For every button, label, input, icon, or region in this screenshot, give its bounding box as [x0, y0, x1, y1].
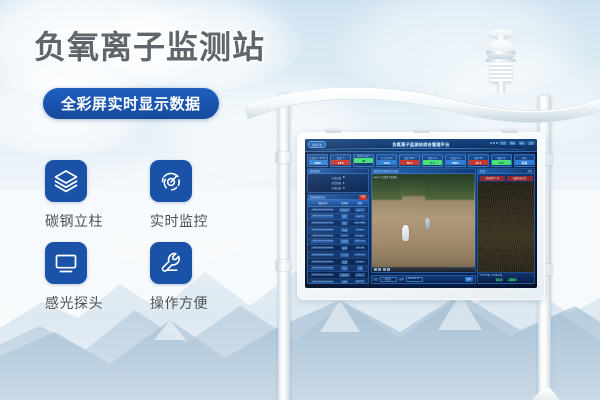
site-label: 站点	[374, 277, 379, 281]
kpi-label: 湿度 %RH	[400, 156, 418, 160]
header-swoosh-decoration	[313, 148, 529, 152]
table-row[interactable]: 2023-03-14 08:45:00大气压1013 hPa	[308, 252, 368, 259]
alert-badge: 超标预警 1 条	[480, 176, 506, 181]
table-cell: 2023-03-14 08:50:00	[308, 245, 337, 252]
table-cell: 东南	[352, 265, 368, 272]
kpi-label: 光照度 Lux	[446, 156, 464, 160]
table-cell: 负氧离子	[337, 272, 351, 279]
feature-item-easy-operation[interactable]: 操作方便	[150, 242, 250, 324]
status-dot	[496, 142, 498, 144]
kpi-row: 负氧离子 个/cm³2860温度 ℃18.6PM2.5 μg/m³32大气压 h…	[305, 152, 537, 167]
nav-chip[interactable]: 报表	[518, 141, 526, 146]
table-cell: 噪声	[337, 245, 351, 252]
kpi-card: 大气压 hPa1013	[376, 154, 397, 167]
table-cell: 2023-03-14 08:55:00	[308, 238, 337, 245]
camera-osd-label: CAM-01 负氧离子监测站	[373, 175, 397, 179]
dashboard-body: 实时概况 在线设备8报警数量1离线设备0 历史数据记录 导出 采集时间监测项数值	[305, 167, 537, 286]
kpi-card: 光照度 Lux8650	[445, 154, 466, 167]
table-cell: 风速	[337, 227, 351, 234]
table-body: 2023-03-14 09:20:00负氧离子2860 个2023-03-14 …	[308, 206, 368, 284]
kpi-card: PM2.5 μg/m³32	[353, 154, 374, 167]
kpi-label: 大气压 hPa	[377, 156, 395, 160]
person-in-frame	[425, 218, 430, 230]
status-dots	[490, 142, 498, 144]
photo-texture	[478, 182, 534, 272]
right-panel-footer: 当日平均值 当日最大值 18.6 2860	[478, 272, 534, 283]
table-cell: 2023-03-14 09:10:00	[308, 220, 337, 227]
video-title: 现场实时视频监控画面	[374, 169, 399, 174]
kpi-card: 雨量 mm0.0	[491, 154, 512, 167]
kpi-label: 负氧离子 个/cm³	[309, 156, 327, 160]
summary-title: 实时概况	[310, 169, 320, 174]
summary-row: 离线设备0	[310, 186, 366, 190]
kpi-label: PM2.5 μg/m³	[354, 156, 372, 158]
video-play-button[interactable]	[374, 268, 377, 271]
footer-tag-row: 当日平均值 当日最大值	[480, 274, 533, 277]
sensor-ring	[486, 59, 516, 62]
export-button[interactable]: 导出	[359, 195, 366, 200]
kpi-label: 风速 m/s	[423, 156, 441, 160]
table-cell: 1013 hPa	[352, 252, 368, 259]
history-table-panel: 历史数据记录 导出 采集时间监测项数值 2023-03-14 09:20:00负…	[307, 194, 369, 284]
table-cell: 2023-03-14 08:30:00	[308, 272, 337, 279]
dashboard-header: 监测平台 负氧离子监测站综合管理平台 首页 数据 报表 设置	[305, 139, 537, 152]
history-table-title: 历史数据记录	[310, 195, 325, 200]
layers-icon	[45, 160, 87, 202]
table-cell: 2860 个	[352, 206, 368, 213]
kpi-label: 噪声 dB	[469, 156, 487, 160]
summary-row-name: 报警数量	[332, 181, 342, 185]
kpi-label: 风向	[515, 156, 533, 160]
table-cell: 光照度	[337, 238, 351, 245]
table-row[interactable]: 2023-03-14 08:35:00风向东南	[308, 265, 368, 272]
feature-grid: 碳钢立柱 实时监控	[45, 160, 255, 324]
summary-panel: 实时概况 在线设备8报警数量1离线设备0	[307, 168, 369, 192]
feature-label: 实时监控	[150, 211, 250, 231]
dashboard-screen: 监测平台 负氧离子监测站综合管理平台 首页 数据 报表 设置	[305, 139, 537, 288]
nav-chip[interactable]: 数据	[509, 141, 517, 146]
table-cell: 2023-03-14 08:45:00	[308, 252, 337, 259]
nav-chip[interactable]: 设置	[527, 141, 535, 146]
monitor-screen-icon	[45, 242, 87, 284]
tree-line	[425, 174, 474, 199]
right-tab-live[interactable]: 实况	[480, 169, 485, 174]
table-cell: 负氧离子	[337, 206, 351, 213]
table-cell: 雨量	[337, 258, 351, 265]
feature-item-light-sensor[interactable]: 感光探头	[45, 242, 145, 324]
table-cell: 18.6 ℃	[352, 213, 368, 220]
summary-row-value: 1	[343, 182, 344, 185]
table-cell: 2023-03-14 08:35:00	[308, 265, 337, 272]
table-cell: 2.4 m/s	[352, 227, 368, 234]
summary-row-name: 在线设备	[332, 176, 342, 180]
kpi-value: 8650	[446, 160, 464, 165]
table-cell: 大气压	[337, 252, 351, 259]
sensor-body	[490, 63, 512, 83]
radar-monitor-icon	[150, 160, 192, 202]
table-cell: 2023-03-14 09:20:00	[308, 206, 337, 213]
kpi-value: 56.2	[400, 160, 418, 165]
pole-joint	[276, 260, 291, 271]
feature-item-steel-pole[interactable]: 碳钢立柱	[45, 160, 145, 242]
table-row[interactable]: 2023-03-14 08:25:00温度18.2 ℃	[308, 279, 368, 284]
video-panel-header: 现场实时视频监控画面	[372, 169, 475, 174]
site-select[interactable]: 一号站点	[380, 277, 397, 282]
site-photo	[478, 182, 534, 272]
table-cell: 8650 Lux	[352, 238, 368, 245]
table-cell: 温度	[337, 213, 351, 220]
kpi-value: 42.1	[469, 160, 487, 165]
kpi-card: 湿度 %RH56.2	[399, 154, 420, 167]
table-row[interactable]: 2023-03-14 09:05:00风速2.4 m/s	[308, 227, 368, 234]
footer-tag: 当日平均值	[480, 274, 490, 277]
alert-badge: 设备状态正常	[507, 176, 533, 181]
kpi-value: 1013	[377, 160, 395, 165]
summary-row: 报警数量1	[310, 181, 366, 185]
alert-row: 超标预警 1 条 设备状态正常	[478, 174, 534, 181]
history-table: 采集时间监测项数值 2023-03-14 09:20:00负氧离子2860 个2…	[308, 200, 368, 284]
table-row[interactable]: 2023-03-14 09:10:00湿度56.2 %RH	[308, 220, 368, 227]
table-row[interactable]: 2023-03-14 08:55:00光照度8650 Lux	[308, 238, 368, 245]
video-pause-button[interactable]	[378, 268, 381, 271]
kpi-card: 负氧离子 个/cm³2860	[307, 154, 328, 167]
date-label: 日期	[399, 277, 404, 281]
kpi-value: 东南	[515, 160, 533, 165]
table-cell: 湿度	[337, 220, 351, 227]
mount-tab	[501, 128, 518, 133]
footer-tag: 当日最大值	[491, 274, 501, 277]
dashboard-left-column: 实时概况 在线设备8报警数量1离线设备0 历史数据记录 导出 采集时间监测项数值	[307, 168, 369, 284]
kpi-label: 温度 ℃	[331, 156, 349, 160]
video-snapshot-button[interactable]	[383, 268, 386, 271]
kpi-card: 风速 m/s2.4	[422, 154, 443, 167]
table-row[interactable]: 2023-03-14 09:20:00负氧离子2860 个	[308, 206, 368, 213]
right-tab-trend[interactable]: 趋势	[527, 169, 532, 174]
kpi-value: 2860	[309, 160, 327, 165]
camera-feed[interactable]: CAM-01 负氧离子监测站 2023-03-14 09:20:18	[372, 174, 475, 272]
summary-row: 在线设备8	[310, 176, 366, 180]
kpi-value: 2.4	[423, 160, 441, 165]
table-cell: 2023-03-14 08:40:00	[308, 258, 337, 265]
footer-big-value: 2860	[509, 278, 517, 282]
left-pole	[278, 94, 290, 400]
mount-tab	[413, 128, 430, 133]
table-cell: 2023-03-14 09:15:00	[308, 213, 337, 220]
table-cell: 2023-03-14 08:25:00	[308, 279, 337, 284]
video-controls[interactable]	[372, 267, 475, 272]
table-row[interactable]: 2023-03-14 08:40:00雨量0.0 mm	[308, 258, 368, 265]
video-fullscreen-button[interactable]	[387, 268, 390, 271]
person-in-frame	[402, 225, 409, 241]
page-title: 负氧离子监测站	[34, 22, 265, 68]
tree-line	[400, 174, 427, 196]
pole-base	[529, 388, 563, 400]
nav-chip[interactable]: 首页	[499, 141, 507, 146]
ultrasonic-weather-sensor	[484, 30, 518, 92]
monitoring-station-hardware: 监测平台 负氧离子监测站综合管理平台 首页 数据 报表 设置	[246, 24, 600, 400]
table-cell: 温度	[337, 279, 351, 284]
table-row[interactable]: 2023-03-14 09:15:00温度18.6 ℃	[308, 213, 368, 220]
video-panel: 现场实时视频监控画面 CAM-01 负氧离子监测站 2023-03-14 09:…	[371, 168, 476, 273]
sensor-stem	[497, 81, 505, 93]
feature-item-realtime-monitor[interactable]: 实时监控	[150, 160, 250, 242]
mount-tab	[325, 128, 342, 133]
table-cell: 0.0 mm	[352, 258, 368, 265]
wrench-icon	[150, 242, 192, 284]
table-cell: 56.2 %RH	[352, 220, 368, 227]
kpi-card: 风向东南	[514, 154, 535, 167]
dashboard-middle-column: 现场实时视频监控画面 CAM-01 负氧离子监测站 2023-03-14 09:…	[371, 168, 476, 284]
feature-label: 感光探头	[45, 293, 145, 313]
pole-joint	[276, 152, 291, 163]
date-input[interactable]: 2023-03-14	[406, 277, 423, 282]
kpi-value: 32	[354, 158, 372, 163]
dashboard-top-right: 首页 数据 报表 设置	[490, 141, 535, 146]
table-cell: 2023-03-14 09:05:00	[308, 227, 337, 234]
table-cell: 风向	[337, 265, 351, 272]
right-info-panel: 实况 趋势 超标预警 1 条 设备状态正常	[477, 168, 535, 284]
table-cell: 18.2 ℃	[352, 279, 368, 284]
kpi-card: 温度 ℃18.6	[330, 154, 351, 167]
kpi-card: 噪声 dB42.1	[468, 154, 489, 167]
summary-list: 在线设备8报警数量1离线设备0	[308, 174, 368, 191]
table-cell: 42.1 dB	[352, 245, 368, 252]
kpi-label: 雨量 mm	[492, 156, 510, 160]
status-dot	[493, 142, 495, 144]
sensor-ring	[486, 51, 516, 54]
feature-label: 碳钢立柱	[45, 211, 145, 231]
table-row[interactable]: 2023-03-14 08:30:00负氧离子2795 个	[308, 272, 368, 279]
footer-values: 18.6 2860	[480, 278, 533, 282]
feature-label: 操作方便	[150, 293, 250, 313]
summary-row-name: 离线设备	[332, 186, 342, 190]
query-toolbar: 站点 一号站点 日期 2023-03-14 查询	[371, 275, 476, 284]
status-dot	[490, 142, 492, 144]
summary-row-value: 8	[343, 176, 344, 179]
query-button[interactable]: 查询	[465, 277, 473, 282]
dashboard-right-column: 实况 趋势 超标预警 1 条 设备状态正常	[477, 168, 535, 284]
banner-background: 监测平台 负氧离子监测站综合管理平台 首页 数据 报表 设置	[0, 0, 600, 400]
feature-badge: 全彩屏实时显示数据	[43, 88, 219, 119]
footer-big-value: 18.6	[496, 278, 503, 282]
kpi-value: 0.0	[492, 160, 510, 165]
table-cell: 2795 个	[352, 272, 368, 279]
table-row[interactable]: 2023-03-14 08:50:00噪声42.1 dB	[308, 245, 368, 252]
summary-row-value: 0	[343, 187, 344, 190]
outdoor-lcd-display: 监测平台 负氧离子监测站综合管理平台 首页 数据 报表 设置	[297, 132, 545, 300]
kpi-value: 18.6	[331, 160, 349, 165]
sensor-dome	[487, 40, 515, 59]
